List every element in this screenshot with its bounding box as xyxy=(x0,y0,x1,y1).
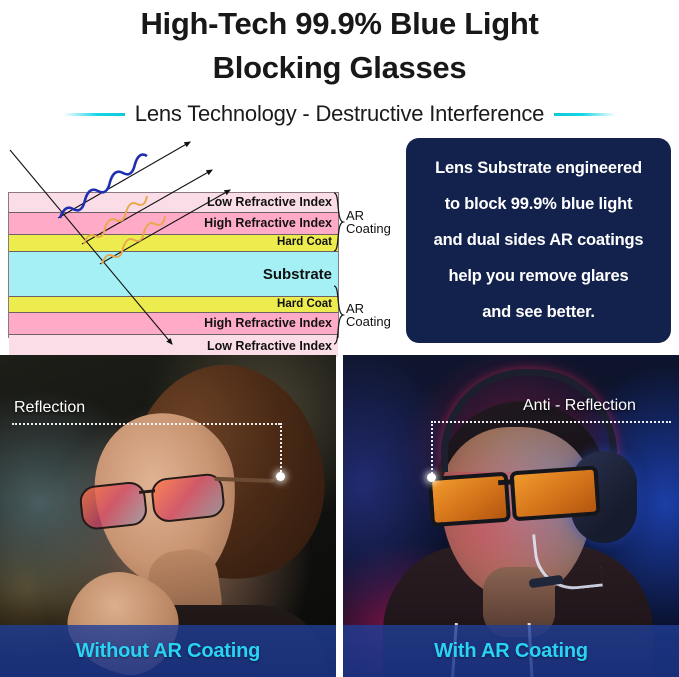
photo-with-ar-coating: Anti - Reflection With AR Coating xyxy=(343,355,679,677)
subtitle-text: Lens Technology - Destructive Interferen… xyxy=(135,101,544,127)
callout-target-dot xyxy=(427,473,436,482)
layer-label: High Refractive Index xyxy=(204,217,338,230)
layer-label: Low Refractive Index xyxy=(207,340,338,353)
info-card-line: and see better. xyxy=(420,294,657,330)
layer-label: Hard Coat xyxy=(277,237,338,249)
lens-technology-section: Low Refractive Index High Refractive Ind… xyxy=(0,132,679,350)
glasses-lens-right xyxy=(509,465,600,521)
divider-rule-right xyxy=(554,113,616,116)
layer-high-refractive-index-top: High Refractive Index xyxy=(9,213,338,235)
layer-label: Hard Coat xyxy=(277,299,338,311)
caption-without-ar-coating: Without AR Coating xyxy=(76,640,260,663)
info-card-line: to block 99.9% blue light xyxy=(420,186,657,222)
header: High-Tech 99.9% Blue Light Blocking Glas… xyxy=(0,0,679,95)
page-title-line-2: Blocking Glasses xyxy=(0,46,679,89)
divider-rule-left xyxy=(63,113,125,116)
ar-coating-label-line2: Coating xyxy=(346,315,391,328)
info-card-line: help you remove glares xyxy=(420,258,657,294)
brace-icon xyxy=(333,285,345,345)
ar-coating-label-top: AR Coating xyxy=(346,209,391,235)
layer-high-refractive-index-bottom: High Refractive Index xyxy=(9,313,338,335)
caption-bar-left: Without AR Coating xyxy=(0,625,336,677)
subtitle-row: Lens Technology - Destructive Interferen… xyxy=(0,96,679,132)
callout-leader-vertical xyxy=(431,421,433,477)
lens-layer-diagram: Low Refractive Index High Refractive Ind… xyxy=(8,192,341,340)
info-card: Lens Substrate engineered to block 99.9%… xyxy=(406,138,671,343)
layer-hard-coat-top: Hard Coat xyxy=(9,235,338,252)
comparison-photos: Reflection Without AR Coating Anti xyxy=(0,355,679,677)
caption-with-ar-coating: With AR Coating xyxy=(434,640,588,663)
brace-icon xyxy=(333,192,345,252)
photo-without-ar-coating: Reflection Without AR Coating xyxy=(0,355,336,677)
ar-coating-group-top: AR Coating xyxy=(333,192,403,252)
layer-low-refractive-index-top: Low Refractive Index xyxy=(9,193,338,213)
ar-coating-group-bottom: AR Coating xyxy=(333,285,403,345)
layer-label: Low Refractive Index xyxy=(207,196,338,209)
layer-substrate: Substrate xyxy=(9,252,338,297)
info-card-line: and dual sides AR coatings xyxy=(420,222,657,258)
callout-leader-horizontal xyxy=(12,423,280,425)
anti-reflection-callout-label: Anti - Reflection xyxy=(523,397,636,415)
callout-leader-horizontal xyxy=(431,421,671,423)
layer-label: High Refractive Index xyxy=(204,317,338,330)
callout-target-dot xyxy=(276,472,285,481)
info-card-line: Lens Substrate engineered xyxy=(420,150,657,186)
caption-bar-right: With AR Coating xyxy=(343,625,679,677)
layer-label: Substrate xyxy=(263,267,338,282)
page-title-line-1: High-Tech 99.9% Blue Light xyxy=(0,2,679,45)
lens-layer-stack: Low Refractive Index High Refractive Ind… xyxy=(8,192,339,338)
ar-coating-label-bottom: AR Coating xyxy=(346,302,391,328)
layer-hard-coat-bottom: Hard Coat xyxy=(9,297,338,313)
layer-low-refractive-index-bottom: Low Refractive Index xyxy=(9,335,338,357)
reflection-callout-label: Reflection xyxy=(14,399,85,417)
glasses-lens-left xyxy=(78,480,148,531)
callout-leader-vertical xyxy=(280,423,282,476)
ar-coating-label-line2: Coating xyxy=(346,222,391,235)
